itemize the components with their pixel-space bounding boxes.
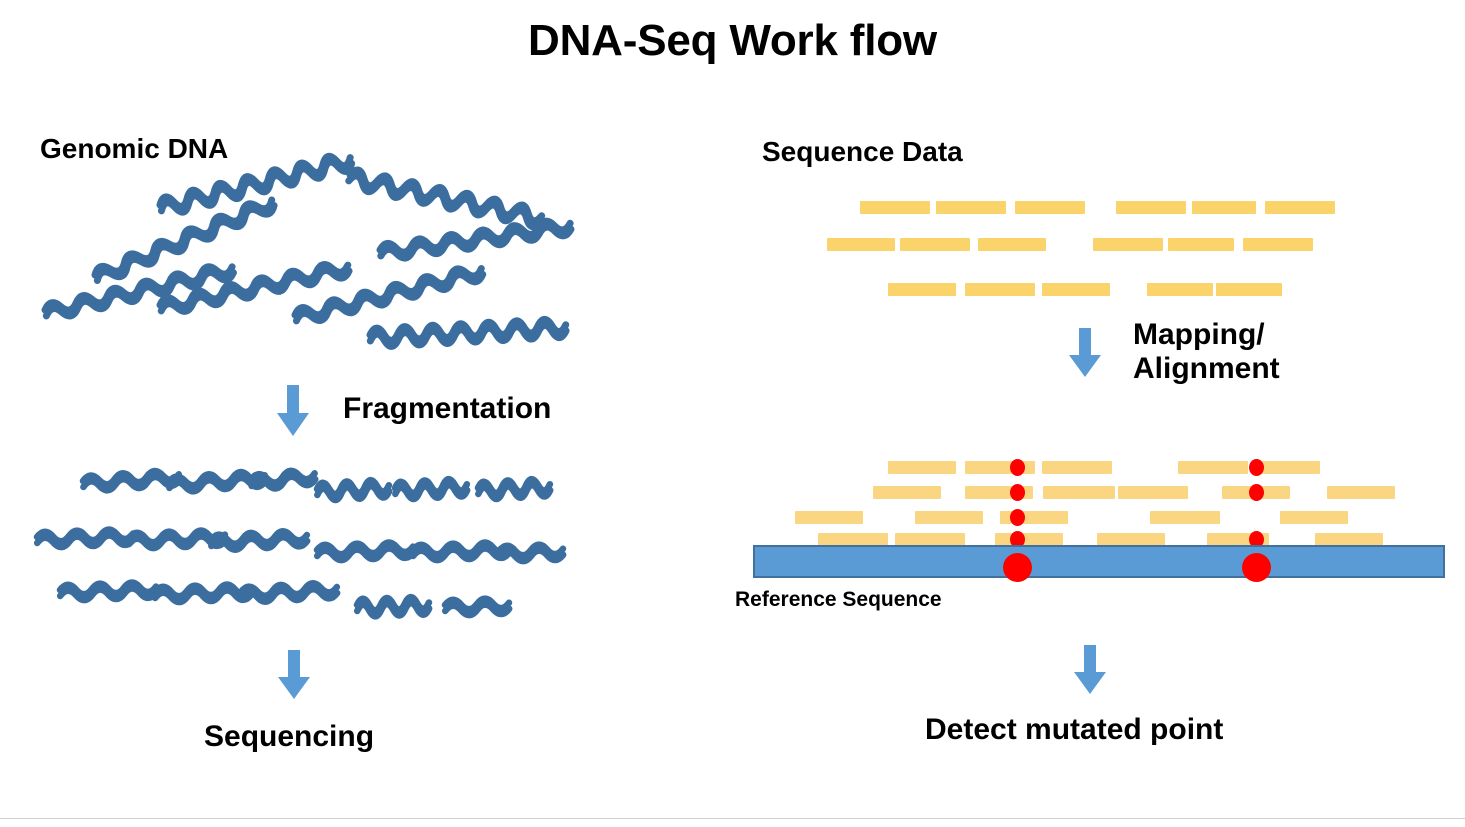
detect-arrow-icon: [1073, 645, 1107, 695]
reference-mutation-dots: [0, 0, 1465, 600]
reference-mutation-dot: [1242, 553, 1271, 582]
sequencing-arrow-icon: [277, 650, 311, 700]
detect-mutated-point-label: Detect mutated point: [925, 713, 1223, 747]
sequencing-label: Sequencing: [204, 720, 374, 754]
reference-mutation-dot: [1003, 553, 1032, 582]
slide-canvas: DNA-Seq Work flow Genomic DNA: [0, 0, 1465, 827]
reference-sequence-label: Reference Sequence: [735, 588, 942, 612]
bottom-divider: [0, 818, 1465, 819]
